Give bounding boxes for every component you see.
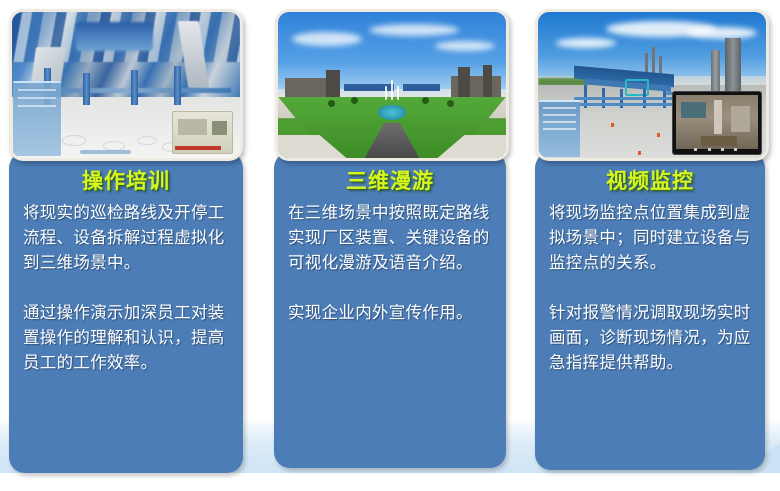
panel-text-line — [543, 128, 576, 130]
support-column — [83, 73, 90, 105]
panel-text-line — [18, 105, 56, 107]
building-tower-left — [326, 70, 340, 96]
fountain-jet — [385, 86, 387, 100]
cctv-feed-image — [676, 95, 758, 150]
safety-cone — [638, 151, 641, 155]
cloud — [687, 27, 757, 39]
column-tower-second — [711, 50, 720, 91]
scene-watermark — [80, 150, 130, 154]
column-tower-main — [725, 38, 741, 91]
card-paragraph: 实现企业内外宣传作用。 — [288, 300, 492, 325]
card-3d-roaming[interactable]: 三维漫游 在三维场景中按照既定路线实现厂区装置、关键设备的可视化漫游及语音介绍。… — [274, 152, 506, 468]
card-title-3d-roaming: 三维漫游 — [274, 165, 506, 195]
panel-text-line — [18, 97, 56, 99]
cloud — [556, 38, 616, 48]
scene-plant-exterior — [538, 12, 766, 158]
plant-interior-scene-inner — [12, 12, 240, 158]
safety-cone — [611, 123, 614, 127]
panel-text-line — [543, 114, 576, 116]
building-blue-right — [403, 84, 439, 91]
cctv-control-bar[interactable] — [676, 149, 758, 154]
cctv-control-dot[interactable] — [708, 148, 711, 151]
cctv-live-feed-inset[interactable] — [673, 92, 761, 153]
support-column — [174, 66, 181, 105]
cloud — [292, 32, 362, 46]
fountain-jet — [391, 80, 393, 100]
cctv-control-dot[interactable] — [734, 148, 737, 151]
panel-text-line — [18, 89, 56, 91]
scene-info-panel — [13, 81, 61, 156]
tree — [328, 100, 335, 107]
equipment-inset-thumbnail[interactable] — [172, 111, 233, 154]
card-title-operation-training: 操作培训 — [9, 165, 243, 195]
scene-campus-exterior — [278, 12, 506, 158]
slide-canvas: 操作培训 将现实的巡检路线及开停工流程、设备拆解过程虚拟化到三维场景中。 通过操… — [0, 0, 780, 491]
safety-cone — [657, 133, 660, 137]
tree — [447, 100, 454, 107]
floor-marking — [137, 136, 157, 145]
scene-plant-interior — [12, 12, 240, 158]
building-tower-far-right — [483, 65, 492, 97]
card-body-3d-roaming: 在三维场景中按照既定路线实现厂区装置、关键设备的可视化漫游及语音介绍。 实现企业… — [274, 200, 506, 325]
campus-exterior-3d-scene[interactable] — [275, 9, 509, 161]
panel-text-line — [543, 121, 576, 123]
card-paragraph: 针对报警情况调取现场实时画面，诊断现场情况，为应急指挥提供帮助。 — [549, 300, 751, 375]
card-operation-training[interactable]: 操作培训 将现实的巡检路线及开停工流程、设备拆解过程虚拟化到三维场景中。 通过操… — [9, 152, 243, 473]
feed-object — [714, 100, 722, 134]
card-video-surveillance[interactable]: 视频监控 将现场监控点位置集成到虚拟场景中；同时建立设备与监控点的关系。 针对报… — [535, 152, 765, 470]
fountain-jet — [397, 86, 399, 100]
feed-object — [681, 102, 706, 119]
plant-exterior-with-cctv-scene[interactable] — [535, 9, 769, 161]
cctv-control-dot[interactable] — [721, 148, 724, 151]
support-column — [131, 70, 138, 105]
card-paragraph: 通过操作演示加深员工对装置操作的理解和认识，提高员工的工作效率。 — [23, 300, 229, 375]
card-title-video-surveillance: 视频监控 — [535, 165, 765, 195]
card-paragraph: 将现场监控点位置集成到虚拟场景中；同时建立设备与监控点的关系。 — [549, 200, 751, 275]
tree — [422, 97, 429, 104]
fountain-pool — [378, 105, 405, 120]
plant-interior-3d-scene[interactable] — [9, 9, 243, 161]
cloud — [435, 41, 495, 51]
card-body-video-surveillance: 将现场监控点位置集成到虚拟场景中；同时建立设备与监控点的关系。 针对报警情况调取… — [535, 200, 765, 375]
cloud — [369, 24, 459, 36]
inset-red-bar — [175, 146, 221, 150]
feed-object — [701, 136, 737, 146]
feed-object — [731, 106, 751, 132]
inset-machine — [178, 119, 208, 135]
card-paragraph: 在三维场景中按照既定路线实现厂区装置、关键设备的可视化漫游及语音介绍。 — [288, 200, 492, 275]
cctv-control-dot[interactable] — [694, 148, 697, 151]
panel-text-line — [543, 107, 576, 109]
scene-info-panel — [539, 100, 580, 157]
tree — [351, 97, 358, 104]
inset-panel — [212, 121, 227, 135]
card-body-operation-training: 将现实的巡检路线及开停工流程、设备拆解过程虚拟化到三维场景中。 通过操作演示加深… — [9, 200, 243, 375]
card-paragraph: 将现实的巡检路线及开停工流程、设备拆解过程虚拟化到三维场景中。 — [23, 200, 229, 275]
plant-exterior-scene-inner — [538, 12, 766, 158]
campus-scene-inner — [278, 12, 506, 158]
building-tower-right — [458, 67, 469, 96]
skylight-window — [76, 22, 154, 51]
